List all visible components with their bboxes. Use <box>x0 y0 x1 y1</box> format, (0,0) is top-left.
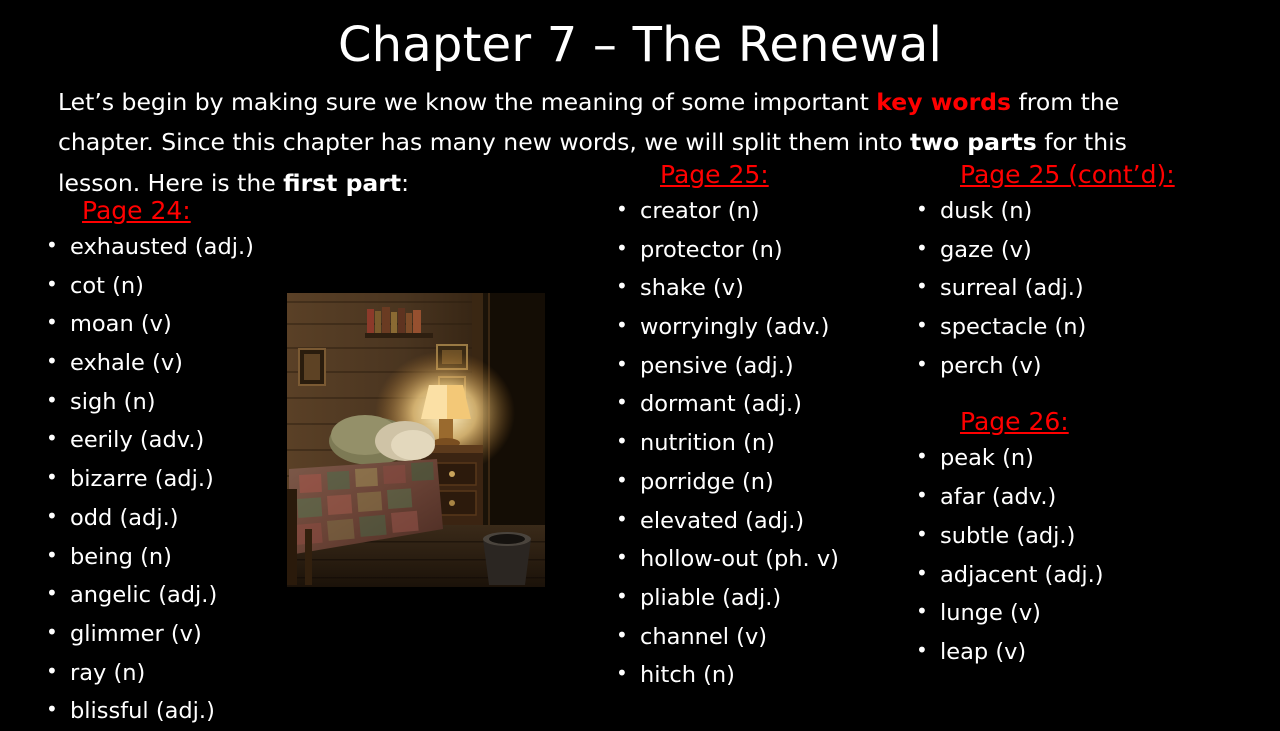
list-item: protector (n) <box>610 231 910 270</box>
word-column-page-25-contd: Page 25 (cont’d): dusk (n) gaze (v) surr… <box>910 160 1240 672</box>
list-item: lunge (v) <box>910 594 1240 633</box>
page-title: Chapter 7 – The Renewal <box>0 18 1280 73</box>
list-item: hollow-out (ph. v) <box>610 540 910 579</box>
list-item: perch (v) <box>910 347 1240 386</box>
word-list-page-26: peak (n) afar (adv.) subtle (adj.) adjac… <box>910 439 1240 671</box>
list-item: gaze (v) <box>910 231 1240 270</box>
list-item: creator (n) <box>610 192 910 231</box>
word-list-page-25-contd: dusk (n) gaze (v) surreal (adj.) spectac… <box>910 192 1240 385</box>
list-item: shake (v) <box>610 269 910 308</box>
word-column-page-25: Page 25: creator (n) protector (n) shake… <box>610 160 910 695</box>
list-item: exhale (v) <box>40 344 290 383</box>
list-item: being (n) <box>40 538 290 577</box>
list-item: nutrition (n) <box>610 424 910 463</box>
list-item: subtle (adj.) <box>910 517 1240 556</box>
word-column-page-24: Page 24: exhausted (adj.) cot (n) moan (… <box>40 196 290 731</box>
word-list-page-24: exhausted (adj.) cot (n) moan (v) exhale… <box>40 228 290 731</box>
bedroom-photo <box>287 293 545 587</box>
list-item: porridge (n) <box>610 463 910 502</box>
column-heading-page-25: Page 25: <box>660 160 910 189</box>
slide: Chapter 7 – The Renewal Let’s begin by m… <box>0 0 1280 720</box>
list-item: ray (n) <box>40 654 290 693</box>
list-item: cot (n) <box>40 267 290 306</box>
list-item: elevated (adj.) <box>610 502 910 541</box>
column-heading-page-25-contd: Page 25 (cont’d): <box>960 160 1240 189</box>
list-item: surreal (adj.) <box>910 269 1240 308</box>
list-item: leap (v) <box>910 633 1240 672</box>
intro-text-part1: Let’s begin by making sure we know the m… <box>58 88 876 116</box>
list-item: pliable (adj.) <box>610 579 910 618</box>
list-item: hitch (n) <box>610 656 910 695</box>
column-heading-page-24: Page 24: <box>82 196 290 225</box>
list-item: adjacent (adj.) <box>910 556 1240 595</box>
intro-keyword: key words <box>876 88 1011 116</box>
list-item: bizarre (adj.) <box>40 460 290 499</box>
list-item: dormant (adj.) <box>610 385 910 424</box>
list-item: channel (v) <box>610 618 910 657</box>
list-item: peak (n) <box>910 439 1240 478</box>
word-list-page-25: creator (n) protector (n) shake (v) worr… <box>610 192 910 695</box>
list-item: eerily (adv.) <box>40 421 290 460</box>
list-item: afar (adv.) <box>910 478 1240 517</box>
list-item: spectacle (n) <box>910 308 1240 347</box>
list-item: dusk (n) <box>910 192 1240 231</box>
column-heading-page-26: Page 26: <box>960 407 1240 436</box>
list-item: odd (adj.) <box>40 499 290 538</box>
list-item: worryingly (adv.) <box>610 308 910 347</box>
intro-text-part4: : <box>401 169 409 197</box>
list-item: pensive (adj.) <box>610 347 910 386</box>
list-item: angelic (adj.) <box>40 576 290 615</box>
list-item: blissful (adj.) <box>40 692 290 731</box>
list-item: glimmer (v) <box>40 615 290 654</box>
intro-bold-two-parts: two parts <box>910 128 1037 156</box>
list-item: exhausted (adj.) <box>40 228 290 267</box>
list-item: sigh (n) <box>40 383 290 422</box>
intro-bold-first-part: first part <box>283 169 401 197</box>
list-item: moan (v) <box>40 305 290 344</box>
